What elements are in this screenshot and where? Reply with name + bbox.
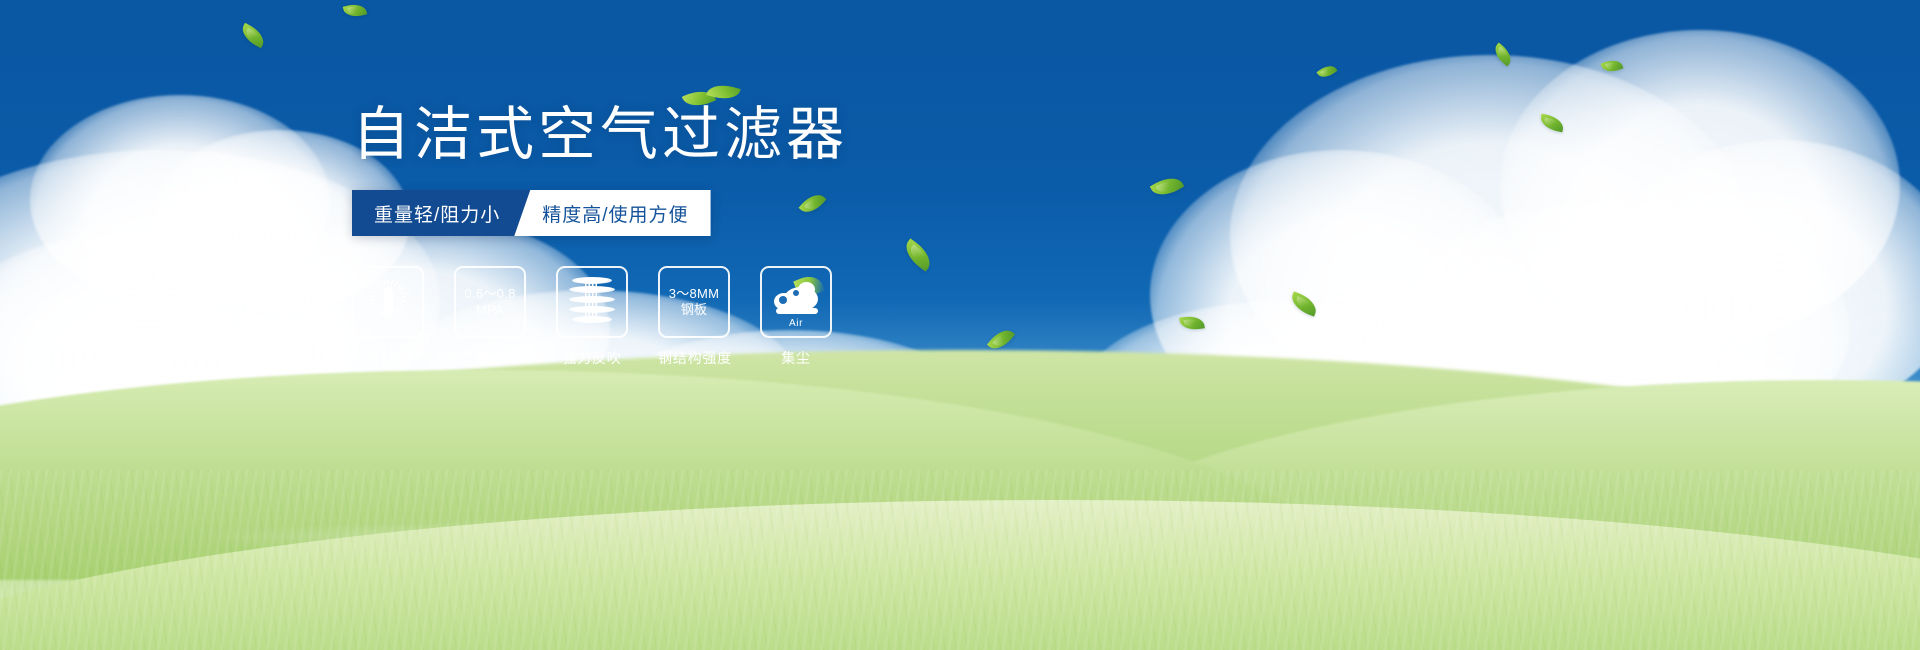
- filter-disc: [569, 306, 615, 313]
- feature-list: NO OFF 控制仪 0.6～0.8 MPA 二级过滤: [352, 266, 832, 368]
- floating-leaf-icon: [900, 238, 936, 271]
- headline-block: 自洁式空气过滤器: [352, 104, 1132, 167]
- feature-label: 二级过滤: [454, 348, 526, 368]
- feature-icon-box: 3～8MM 钢板: [658, 266, 730, 338]
- floating-leaf-icon: [238, 23, 268, 48]
- steel-material: 钢板: [669, 302, 720, 318]
- floating-leaf-icon: [1179, 314, 1205, 331]
- feature-icon-box: NO OFF: [352, 266, 424, 338]
- cloud-shape: [1500, 30, 1900, 340]
- floating-leaf-icon: [1288, 291, 1320, 316]
- cloud-base: [776, 308, 818, 314]
- filter-disc: [572, 316, 612, 323]
- feature-label: 集尘: [760, 348, 832, 368]
- steel-thickness: 3～8MM: [669, 286, 720, 302]
- floating-leaf-icon: [1150, 172, 1184, 202]
- feature-label: 钢结构强度: [658, 348, 730, 368]
- badge-precision: 精度高/使用方便: [514, 190, 710, 236]
- air-cloud-icon: Air: [768, 278, 824, 326]
- feature-item-controller[interactable]: NO OFF 控制仪: [352, 266, 424, 368]
- feature-item-blowback[interactable]: 强力反吹: [556, 266, 628, 368]
- feature-icon-box: Air: [760, 266, 832, 338]
- filter-disc: [569, 286, 615, 293]
- floating-leaf-icon: [799, 189, 827, 218]
- floating-leaf-icon: [343, 2, 367, 20]
- feature-label: 控制仪: [352, 348, 424, 368]
- cloud-shape: [30, 95, 330, 305]
- feature-label: 强力反吹: [556, 348, 628, 368]
- filter-disc: [572, 277, 612, 284]
- floating-leaf-icon: [1539, 114, 1565, 133]
- steel-plate-text-icon: 3～8MM 钢板: [669, 286, 720, 318]
- pressure-text-icon: 0.6～0.8 MPA: [464, 286, 515, 318]
- grass-texture: [0, 470, 1920, 650]
- page-title: 自洁式空气过滤器: [352, 104, 1132, 167]
- grass-hills: [0, 370, 1920, 650]
- feature-item-steel[interactable]: 3～8MM 钢板 钢结构强度: [658, 266, 730, 368]
- feature-icon-box: 0.6～0.8 MPA: [454, 266, 526, 338]
- dial-knob-icon: NO OFF: [362, 276, 414, 328]
- floating-leaf-icon: [1490, 42, 1515, 66]
- dial-pointer: [384, 286, 393, 317]
- floating-leaf-icon: [1316, 62, 1337, 81]
- filter-stack-icon: [569, 277, 615, 327]
- pressure-unit: MPA: [464, 302, 515, 318]
- cloud-cutout: [793, 290, 799, 296]
- tagline-badges: 重量轻/阻力小 精度高/使用方便: [352, 190, 711, 236]
- air-label: Air: [768, 318, 824, 329]
- floating-leaf-icon: [1601, 57, 1624, 75]
- pressure-value: 0.6～0.8: [464, 286, 515, 302]
- feature-item-filtration[interactable]: 0.6～0.8 MPA 二级过滤: [454, 266, 526, 368]
- feature-item-dust[interactable]: Air 集尘: [760, 266, 832, 368]
- title-leaf-sprig-icon: [682, 82, 742, 122]
- filter-disc: [569, 296, 615, 303]
- dial-label-on: NO: [359, 298, 369, 304]
- dial-label-off: OFF: [403, 320, 416, 326]
- badge-lightweight: 重量轻/阻力小: [352, 190, 530, 236]
- cloud-cutout: [779, 296, 787, 304]
- hero-banner: 自洁式空气过滤器 重量轻/阻力小 精度高/使用方便 NO OFF 控制仪: [0, 0, 1920, 650]
- feature-icon-box: [556, 266, 628, 338]
